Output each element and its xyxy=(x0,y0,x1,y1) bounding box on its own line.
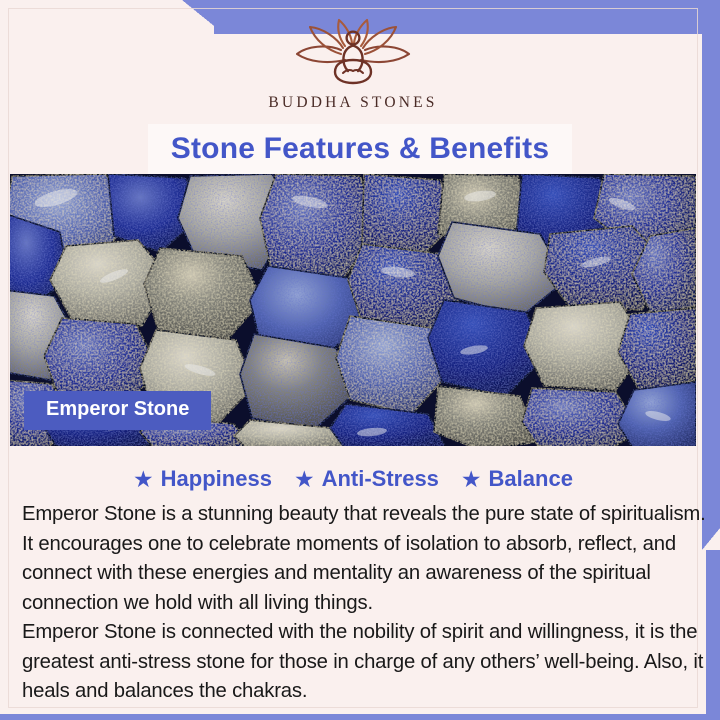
benefit-item-happiness: ★ Happiness xyxy=(133,466,272,492)
star-icon: ★ xyxy=(461,468,482,491)
benefit-label: Anti-Stress xyxy=(322,466,439,492)
description-paragraph-2: Emperor Stone is connected with the nobi… xyxy=(22,618,708,707)
page-title: Stone Features & Benefits xyxy=(171,132,549,166)
benefit-item-balance: ★ Balance xyxy=(461,466,573,492)
lotus-meditation-icon xyxy=(283,16,423,88)
page-title-band: Stone Features & Benefits xyxy=(148,124,572,174)
description-paragraph-1: Emperor Stone is a stunning beauty that … xyxy=(22,500,708,618)
description-block: Emperor Stone is a stunning beauty that … xyxy=(22,500,708,707)
infographic-poster: BUDDHA STONES Stone Features & Benefits xyxy=(0,0,720,720)
benefit-label: Balance xyxy=(489,466,573,492)
star-icon: ★ xyxy=(133,468,154,491)
benefit-item-anti-stress: ★ Anti-Stress xyxy=(294,466,439,492)
star-icon: ★ xyxy=(294,468,315,491)
benefit-label: Happiness xyxy=(161,466,272,492)
benefits-row: ★ Happiness ★ Anti-Stress ★ Balance xyxy=(0,466,706,492)
product-photo: Emperor Stone xyxy=(10,174,696,446)
brand-name: BUDDHA STONES xyxy=(268,94,437,112)
stone-name-badge: Emperor Stone xyxy=(24,391,211,430)
